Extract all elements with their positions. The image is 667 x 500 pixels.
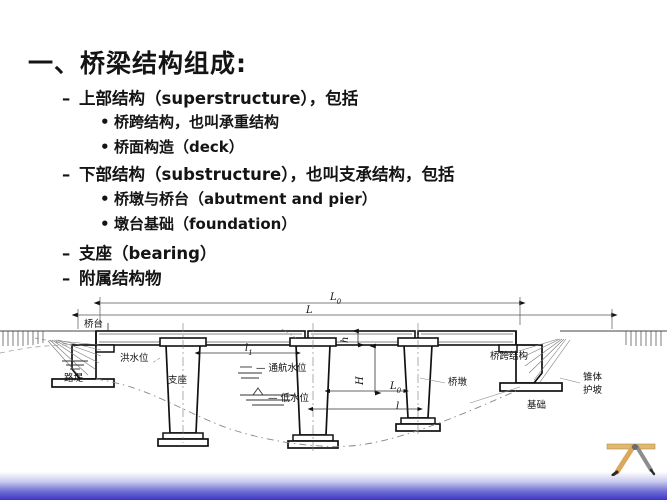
outline-item-5: •墩台基础（foundation） <box>100 213 296 234</box>
label-cone-slope-2: 护坡 <box>583 384 603 396</box>
dim-girder-depth: h <box>340 337 351 343</box>
page-title: 一、桥梁结构组成: <box>28 44 247 80</box>
dim-bridge-length: L <box>305 305 313 316</box>
outline-marker: • <box>100 113 114 131</box>
label-pier: 桥墩 <box>448 376 468 388</box>
drafting-compass-logo <box>603 442 659 476</box>
outline-label: 桥跨结构，也叫承重结构 <box>114 113 279 131</box>
outline-marker: • <box>100 190 114 208</box>
label-span-structure: 桥跨结构 <box>490 350 528 362</box>
outline-item-3: –下部结构（substructure），也叫支承结构，包括 <box>62 161 454 185</box>
dim-height-total: H <box>355 376 366 386</box>
label-abutment: 桥台 <box>84 318 103 330</box>
label-embankment: 路堤 <box>64 372 84 384</box>
outline-label: 上部结构（superstructure），包括 <box>79 89 358 108</box>
outline-item-1: •桥跨结构，也叫承重结构 <box>100 111 279 132</box>
outline-label: 桥墩与桥台（abutment and pier） <box>114 190 377 208</box>
outline-marker: – <box>62 89 79 108</box>
outline-marker: • <box>100 138 114 156</box>
outline-label: 墩台基础（foundation） <box>114 215 296 233</box>
label-foundation: 基础 <box>527 399 546 411</box>
outline-marker: – <box>62 165 79 184</box>
outline-item-0: –上部结构（superstructure），包括 <box>62 85 358 109</box>
outline-label: 支座（bearing） <box>79 244 217 263</box>
dim-span-calc: l <box>396 401 399 412</box>
outline-marker: – <box>62 244 79 263</box>
label-bearing: 支座 <box>168 374 188 386</box>
dim-total-length: L0 <box>329 292 342 306</box>
dim-span-clear: L0 <box>389 381 402 395</box>
bridge-elevation-diagram: 路堤 桥台 洪水位 支座 — 通航水位 — 低水位 桥跨结构 桥墩 基础 锥体 … <box>0 283 667 458</box>
outline-label: 下部结构（substructure），也叫支承结构，包括 <box>79 165 454 184</box>
outline-item-4: •桥墩与桥台（abutment and pier） <box>100 188 377 209</box>
label-low-level: — 低水位 <box>268 392 310 404</box>
label-flood-level: 洪水位 <box>120 352 149 364</box>
outline-item-2: •桥面构造（deck） <box>100 136 244 157</box>
footer-band <box>0 456 667 500</box>
outline-label: 桥面构造（deck） <box>114 138 244 156</box>
label-navigation-level: — 通航水位 <box>256 362 307 374</box>
outline-marker: • <box>100 215 114 233</box>
outline-item-6: –支座（bearing） <box>62 240 217 264</box>
label-cone-slope-1: 锥体 <box>583 371 603 383</box>
slide-root: 一、桥梁结构组成: –上部结构（superstructure），包括 •桥跨结构… <box>0 0 667 500</box>
